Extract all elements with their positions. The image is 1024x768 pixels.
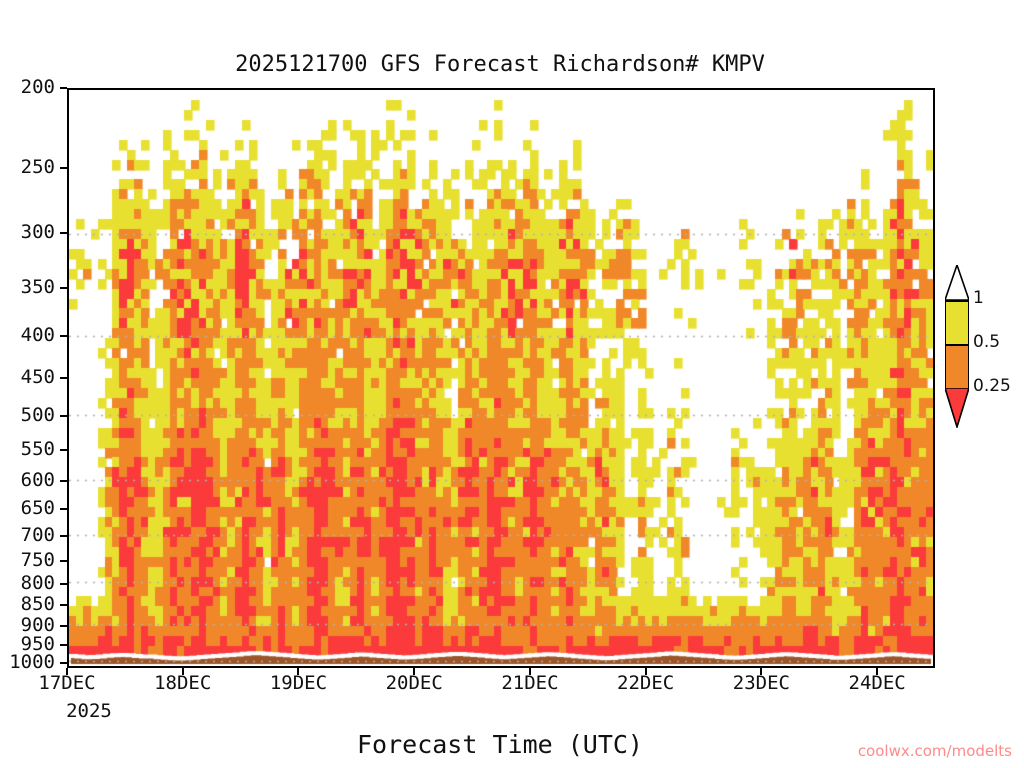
- y-tick-label-450: 450: [0, 366, 55, 388]
- y-tick-mark: [60, 560, 67, 562]
- y-tick-mark: [60, 232, 67, 234]
- y-tick-label-550: 550: [0, 438, 55, 460]
- x-tick-label-24DEC: 24DEC: [849, 672, 906, 694]
- y-tick-mark: [60, 583, 67, 585]
- y-tick-mark: [60, 167, 67, 169]
- x-tick-label-23DEC: 23DEC: [733, 672, 790, 694]
- y-tick-mark: [60, 508, 67, 510]
- colorbar-label-1: 1: [973, 288, 984, 308]
- y-tick-label-650: 650: [0, 497, 55, 519]
- x-tick-mark: [413, 668, 415, 675]
- x-tick-label-22DEC: 22DEC: [617, 672, 674, 694]
- y-tick-label-850: 850: [0, 593, 55, 615]
- y-tick-label-200: 200: [0, 76, 55, 98]
- y-tick-label-400: 400: [0, 324, 55, 346]
- x-tick-mark: [876, 668, 878, 675]
- y-tick-mark: [60, 449, 67, 451]
- colorbar-label-0-25: 0.25: [973, 376, 1011, 396]
- y-tick-label-300: 300: [0, 221, 55, 243]
- y-tick-mark: [60, 335, 67, 337]
- colorbar-label-0-5: 0.5: [973, 332, 1000, 352]
- x-axis-year-label: 2025: [66, 700, 112, 722]
- y-tick-label-1000: 1000: [0, 651, 55, 673]
- y-tick-mark: [60, 377, 67, 379]
- y-tick-mark: [60, 625, 67, 627]
- colorbar-band-yellow: [945, 300, 969, 344]
- x-tick-label-20DEC: 20DEC: [386, 672, 443, 694]
- x-tick-mark: [297, 668, 299, 675]
- page-title: 2025121700 GFS Forecast Richardson# KMPV: [0, 52, 1000, 77]
- colorbar-band-orange: [945, 344, 969, 388]
- x-tick-mark: [529, 668, 531, 675]
- y-tick-mark: [60, 480, 67, 482]
- colorbar-separator: [945, 344, 969, 346]
- plot-area: [67, 88, 935, 668]
- x-tick-label-21DEC: 21DEC: [501, 672, 558, 694]
- y-tick-label-600: 600: [0, 469, 55, 491]
- x-tick-mark: [66, 668, 68, 675]
- x-tick-label-19DEC: 19DEC: [270, 672, 327, 694]
- y-tick-mark: [60, 415, 67, 417]
- y-tick-mark: [60, 287, 67, 289]
- y-tick-mark: [60, 662, 67, 664]
- y-tick-label-250: 250: [0, 156, 55, 178]
- y-tick-mark: [60, 604, 67, 606]
- x-axis-title: Forecast Time (UTC): [0, 730, 1000, 759]
- credit-watermark: coolwx.com/modelts: [858, 742, 1012, 760]
- y-tick-mark: [60, 87, 67, 89]
- colorbar-arrow-bottom: [945, 388, 969, 428]
- richardson-heatmap-canvas: [69, 90, 933, 666]
- x-tick-label-18DEC: 18DEC: [154, 672, 211, 694]
- x-tick-label-17DEC: 17DEC: [38, 672, 95, 694]
- y-tick-label-700: 700: [0, 524, 55, 546]
- x-tick-mark: [645, 668, 647, 675]
- colorbar-arrow-top-outline: [945, 265, 969, 301]
- y-tick-label-500: 500: [0, 404, 55, 426]
- colorbar-legend: 10.50.25: [945, 300, 969, 468]
- x-tick-mark: [182, 668, 184, 675]
- y-tick-mark: [60, 644, 67, 646]
- x-tick-mark: [760, 668, 762, 675]
- y-tick-mark: [60, 535, 67, 537]
- y-tick-label-750: 750: [0, 549, 55, 571]
- y-tick-label-800: 800: [0, 572, 55, 594]
- colorbar-separator: [945, 300, 969, 302]
- y-tick-label-350: 350: [0, 276, 55, 298]
